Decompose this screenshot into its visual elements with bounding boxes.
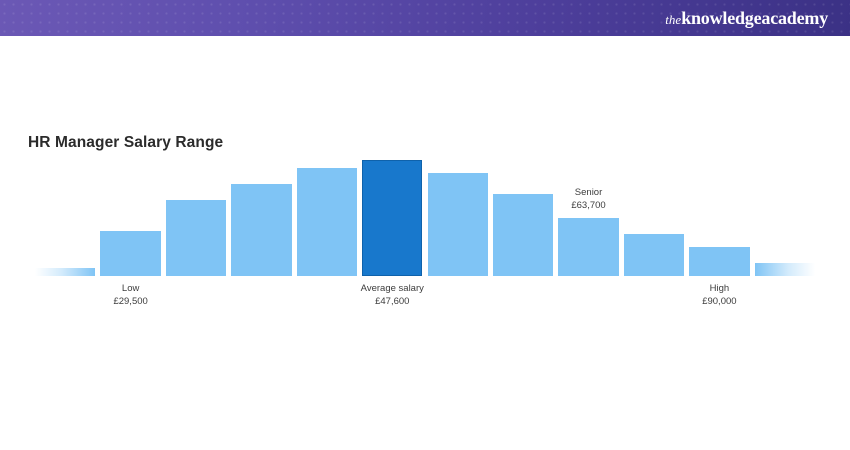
bar-9 <box>558 218 618 276</box>
annotation-value: £29,500 <box>113 295 147 308</box>
annotation-label: Senior <box>571 186 605 199</box>
annotation-value: £47,600 <box>361 295 424 308</box>
bar-12 <box>755 263 815 276</box>
annotation-senior: Senior£63,700 <box>571 186 605 212</box>
salary-range-chart: Low£29,500Average salary£47,600Senior£63… <box>0 0 850 450</box>
annotation-label: Low <box>113 282 147 295</box>
annotation-label: Average salary <box>361 282 424 295</box>
bar-3 <box>166 200 226 276</box>
logo-academy-text: academy <box>761 8 828 28</box>
brand-logo[interactable]: theknowledgeacademy <box>665 9 828 28</box>
annotation-average-salary: Average salary£47,600 <box>361 282 424 308</box>
annotation-low: Low£29,500 <box>113 282 147 308</box>
bar-2 <box>100 231 160 276</box>
logo-prefix-text: the <box>665 12 681 27</box>
chart-title: HR Manager Salary Range <box>28 134 223 152</box>
logo-knowledge-text: knowledge <box>681 8 761 28</box>
bar-5 <box>297 168 357 276</box>
bar-4 <box>231 184 291 276</box>
bar-8 <box>493 194 553 276</box>
site-header: theknowledgeacademy <box>0 0 850 36</box>
bar-10 <box>624 234 684 276</box>
bar-1 <box>35 268 95 276</box>
bar-group <box>35 160 815 276</box>
bar-11 <box>689 247 749 276</box>
annotation-label: High <box>702 282 736 295</box>
annotation-high: High£90,000 <box>702 282 736 308</box>
bar-7 <box>428 173 488 276</box>
bar-6 <box>362 160 422 276</box>
annotation-value: £90,000 <box>702 295 736 308</box>
annotation-value: £63,700 <box>571 199 605 212</box>
